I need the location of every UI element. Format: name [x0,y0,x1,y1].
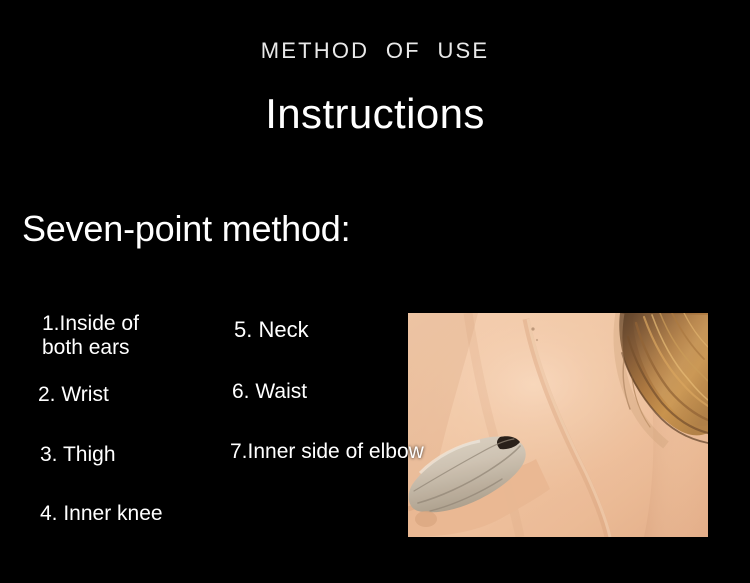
list-item-point-4: 4. Inner knee [40,502,238,526]
page-title: Instructions [0,93,750,135]
points-column-right: 5. Neck 6. Waist 7.Inner side of elbow [230,318,490,464]
slide-root: METHOD OF USE Instructions Seven-point m… [0,0,750,583]
list-item-point-2: 2. Wrist [38,383,238,407]
list-item-point-6: 6. Waist [232,380,490,404]
list-item-point-3: 3. Thigh [40,443,238,467]
section-heading: Seven-point method: [22,209,350,249]
list-item-point-5: 5. Neck [234,318,490,343]
list-item-point-7: 7.Inner side of elbow [230,440,490,464]
eyebrow-label: METHOD OF USE [0,40,750,62]
list-item-point-1: 1.Inside of both ears [42,312,238,359]
points-column-left: 1.Inside of both ears 2. Wrist 3. Thigh … [38,312,238,526]
